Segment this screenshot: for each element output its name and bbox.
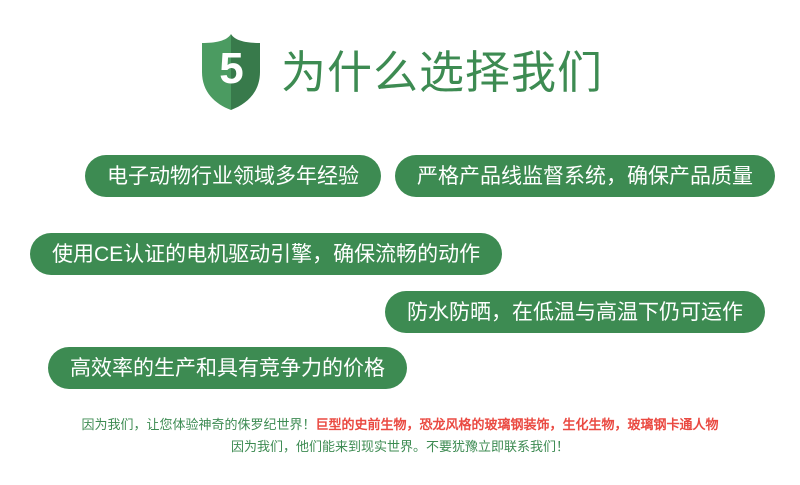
footer-line-1-highlight: 巨型的史前生物，恐龙风格的玻璃钢装饰，生化生物，玻璃钢卡通人物 [316, 417, 719, 432]
shield-badge: 5 [197, 32, 265, 112]
footer-text: 因为我们，让您体验神奇的侏罗纪世界！巨型的史前生物，恐龙风格的玻璃钢装饰，生化生… [0, 414, 800, 458]
feature-pill-3[interactable]: 使用CE认证的电机驱动引擎，确保流畅的动作 [30, 233, 502, 275]
footer-line-1: 因为我们，让您体验神奇的侏罗纪世界！巨型的史前生物，恐龙风格的玻璃钢装饰，生化生… [0, 414, 800, 436]
feature-pill-2[interactable]: 严格产品线监督系统，确保产品质量 [395, 155, 775, 197]
feature-pill-4[interactable]: 防水防晒，在低温与高温下仍可运作 [385, 291, 765, 333]
badge-number: 5 [197, 32, 265, 112]
footer-line-1-lead: 因为我们，让您体验神奇的侏罗纪世界！ [81, 417, 315, 432]
feature-pill-5[interactable]: 高效率的生产和具有竞争力的价格 [48, 347, 407, 389]
page-header: 5 为什么选择我们 [0, 22, 800, 122]
footer-line-2: 因为我们，他们能来到现实世界。不要犹豫立即联系我们！ [0, 436, 800, 458]
feature-pill-1[interactable]: 电子动物行业领域多年经验 [85, 155, 381, 197]
page-title: 为什么选择我们 [281, 50, 603, 95]
